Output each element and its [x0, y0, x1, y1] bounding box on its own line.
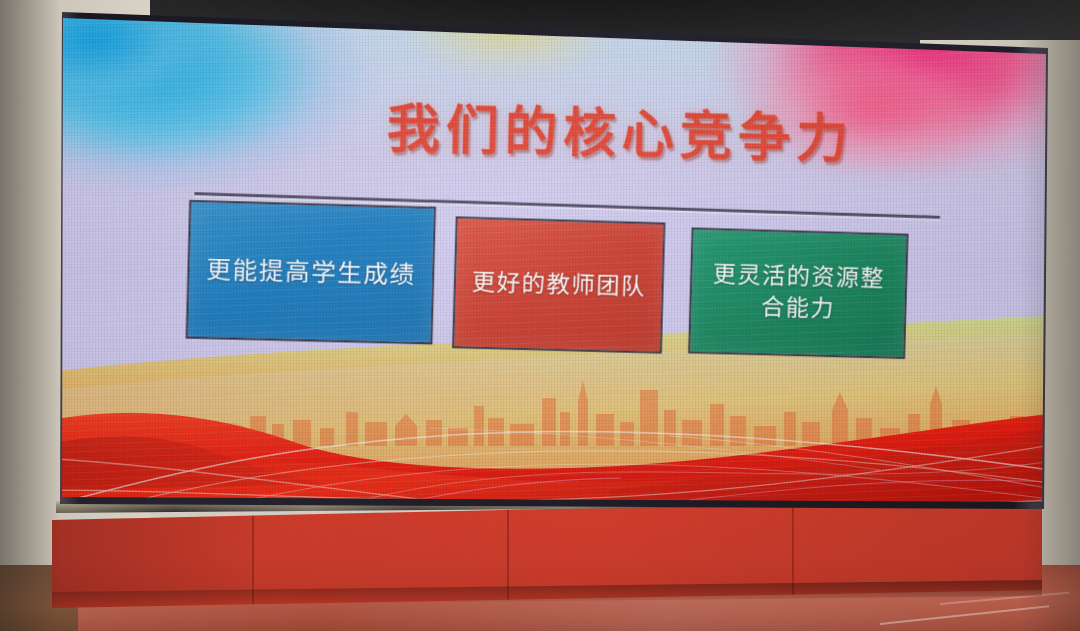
competency-box-group: 更能提高学生成绩 更好的教师团队 更灵活的资源整合能力: [50, 4, 1024, 514]
competency-box-blue-label: 更能提高学生成绩: [206, 253, 416, 291]
competency-box-green-label: 更灵活的资源整合能力: [704, 260, 892, 327]
competency-box-green[interactable]: 更灵活的资源整合能力: [688, 227, 908, 359]
photo-scene: 我们的核心竞争力 更能提高学生成绩 更好的教师团队 更灵活的资源整合能力: [0, 0, 1080, 631]
led-video-wall[interactable]: 我们的核心竞争力 更能提高学生成绩 更好的教师团队 更灵活的资源整合能力: [50, 4, 1048, 514]
slide-content: 我们的核心竞争力 更能提高学生成绩 更好的教师团队 更灵活的资源整合能力: [50, 4, 1024, 514]
wall-shadow-left: [0, 0, 60, 631]
competency-box-red[interactable]: 更好的教师团队: [452, 216, 665, 353]
competency-box-blue[interactable]: 更能提高学生成绩: [186, 200, 436, 345]
competency-box-red-label: 更好的教师团队: [471, 267, 646, 303]
wall-shadow-right: [1020, 0, 1080, 631]
